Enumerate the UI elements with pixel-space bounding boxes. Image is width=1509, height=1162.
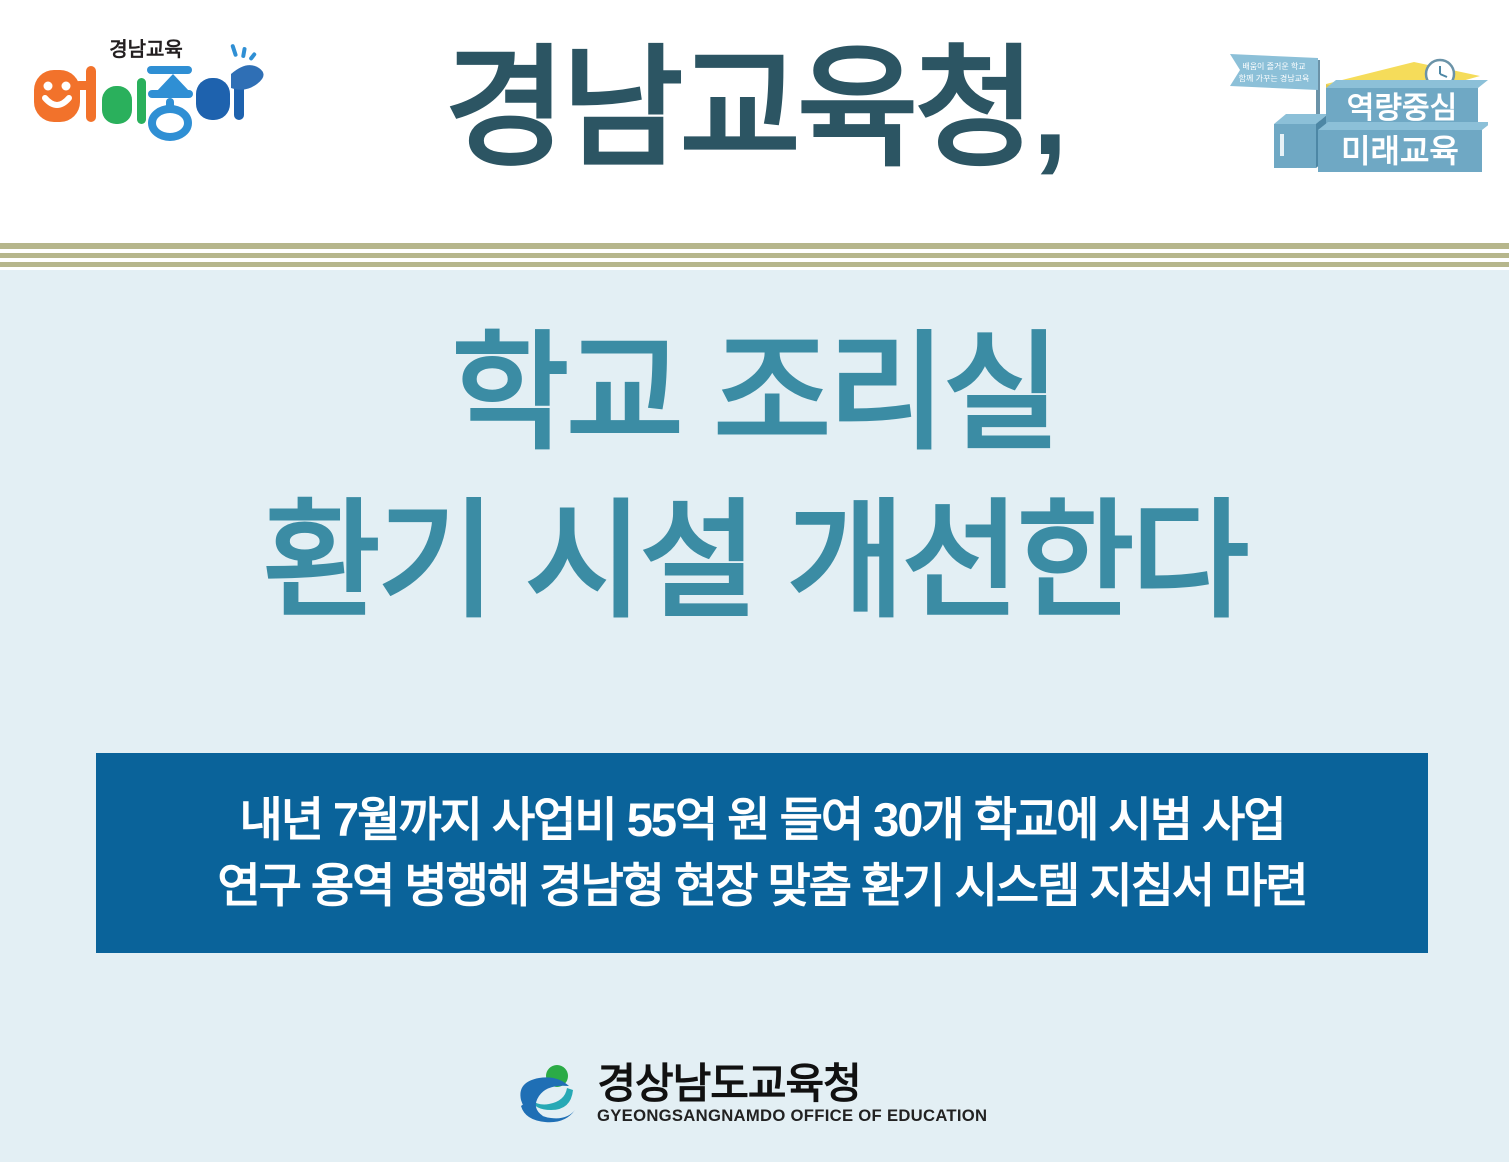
office-logo-korean: 경상남도교육청 bbox=[597, 1062, 860, 1106]
press-release-card: 경남교육 bbox=[0, 0, 1509, 1162]
banner-line-2: 연구 용역 병행해 경남형 현장 맞춤 환기 시스템 지침서 마련 bbox=[217, 853, 1306, 919]
flag-line-1: 배움이 즐거운 학교 bbox=[1242, 61, 1305, 71]
headline-line-2: 환기 시설 개선한다 bbox=[0, 478, 1509, 646]
summary-banner: 내년 7월까지 사업비 55억 원 들여 30개 학교에 시범 사업 연구 용역… bbox=[96, 753, 1428, 953]
divider-stripe-2 bbox=[0, 253, 1509, 258]
divider-stripes bbox=[0, 240, 1509, 270]
office-logo-wordmark: 경상남도교육청 GYEONGSANGNAMDO OFFICE OF EDUCAT… bbox=[597, 1062, 995, 1126]
flag-shape bbox=[1230, 54, 1318, 90]
headline: 학교 조리실 환기 시설 개선한다 bbox=[0, 310, 1509, 646]
gyeongnam-office-of-education-logo: 경상남도교육청 GYEONGSANGNAMDO OFFICE OF EDUCAT… bbox=[0, 1060, 1509, 1128]
flag-line-2: 함께 가꾸는 경남교육 bbox=[1239, 73, 1310, 83]
content-area: 학교 조리실 환기 시설 개선한다 내년 7월까지 사업비 55억 원 들여 3… bbox=[0, 270, 1509, 1162]
office-logo-mark-icon bbox=[513, 1060, 585, 1128]
header-band: 경남교육 bbox=[0, 0, 1509, 240]
future-education-logo: 배움이 즐거운 학교 함께 가꾸는 경남교육 역량중심 bbox=[1218, 38, 1488, 183]
divider-stripe-1 bbox=[0, 243, 1509, 249]
office-logo-english: GYEONGSANGNAMDO OFFICE OF EDUCATION bbox=[597, 1106, 987, 1126]
divider-stripe-3 bbox=[0, 262, 1509, 267]
future-education-logo-graphic: 배움이 즐거운 학교 함께 가꾸는 경남교육 역량중심 bbox=[1218, 38, 1488, 183]
headline-line-1: 학교 조리실 bbox=[0, 310, 1509, 478]
word-line-2: 미래교육 bbox=[1341, 133, 1459, 169]
word-line-1: 역량중심 bbox=[1347, 92, 1457, 125]
banner-line-1: 내년 7월까지 사업비 55억 원 들여 30개 학교에 시범 사업 bbox=[239, 787, 1284, 853]
